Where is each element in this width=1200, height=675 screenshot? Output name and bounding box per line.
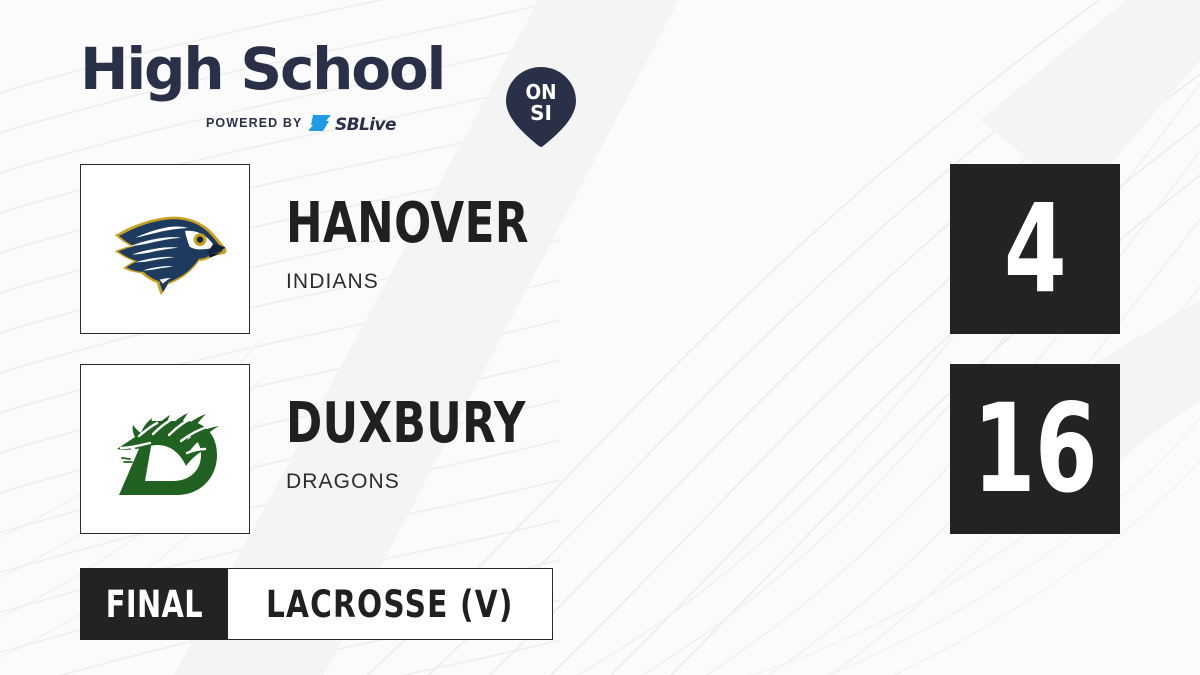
powered-by-block: POWERED BY SBLive — [206, 112, 421, 134]
team-mascot: INDIANS — [286, 270, 597, 294]
score-box: 16 — [950, 364, 1120, 534]
sblive-wordmark: SBLive — [335, 115, 396, 134]
dragon-d-logo — [95, 379, 235, 519]
team-logo-box — [80, 164, 250, 334]
status-sport-label: LACROSSE (V) — [266, 583, 514, 626]
svg-text:SI: SI — [530, 101, 552, 125]
status-state-badge: FINAL — [80, 568, 228, 640]
brand-logo: High School ON SI POWERED BY SBLive — [80, 36, 540, 136]
on-si-pin-icon: ON SI — [504, 66, 578, 148]
brand-wordmark: High School — [80, 36, 444, 102]
team-row: DUXBURY DRAGONS 16 — [80, 364, 1120, 536]
score-box: 4 — [950, 164, 1120, 334]
powered-by-label: POWERED BY — [206, 116, 302, 130]
status-state-label: FINAL — [105, 583, 202, 626]
score-value: 4 — [1004, 188, 1066, 310]
team-mascot: DRAGONS — [286, 470, 593, 494]
team-name: HANOVER — [286, 196, 529, 252]
team-name: DUXBURY — [286, 396, 526, 452]
status-sport-badge: LACROSSE (V) — [228, 568, 553, 640]
score-value: 16 — [973, 388, 1097, 510]
sblive-logo: SBLive — [309, 112, 421, 134]
team-logo-box — [80, 364, 250, 534]
game-status-bar: FINAL LACROSSE (V) — [80, 568, 553, 640]
team-row: HANOVER INDIANS 4 — [80, 164, 1120, 336]
team-text-block: HANOVER INDIANS — [286, 196, 597, 294]
team-text-block: DUXBURY DRAGONS — [286, 396, 593, 494]
hawk-head-logo — [97, 181, 233, 317]
